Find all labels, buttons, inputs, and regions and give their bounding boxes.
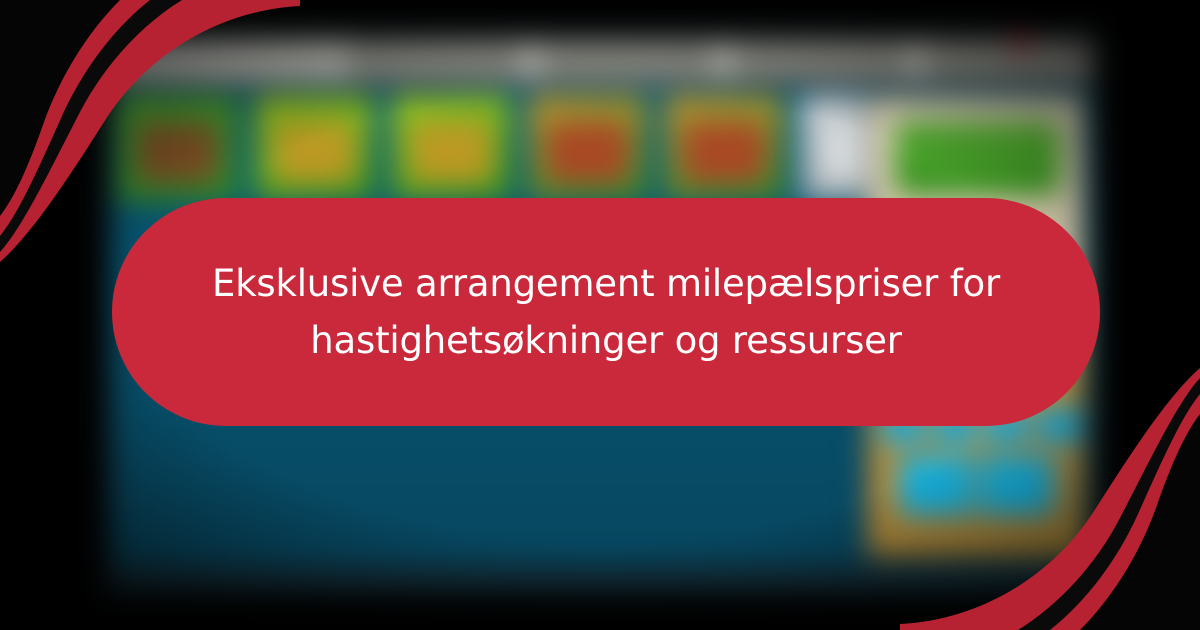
tile-item (254, 95, 374, 203)
toolbar-segment (931, 39, 1092, 82)
tile-item (391, 95, 511, 203)
social-share-card: Eksklusive arrangement milepælspriser fo… (0, 0, 1200, 630)
tile-inner (137, 123, 219, 183)
app-toolbar (111, 39, 1092, 82)
toolbar-segment (354, 39, 515, 82)
side-panel-small-button (1038, 408, 1079, 443)
tile-item (664, 95, 784, 203)
tile-inner (547, 123, 629, 183)
toolbar-chip-icon (712, 45, 735, 76)
app-status-bar (111, 569, 1092, 592)
tile-inner (273, 123, 355, 183)
toolbar-active-tab (111, 39, 349, 82)
page-title: Eksklusive arrangement milepælspriser fo… (198, 255, 1014, 370)
tile-inner (410, 123, 492, 183)
side-panel-secondary-button (899, 456, 1054, 516)
toolbar-chip-icon (519, 45, 542, 76)
headline-pill: Eksklusive arrangement milepælspriser fo… (112, 198, 1100, 426)
tile-row (118, 95, 921, 203)
toolbar-segment (546, 39, 707, 82)
toolbar-segment (739, 39, 900, 82)
side-panel-primary-button (895, 121, 1061, 196)
tile-item (527, 95, 647, 203)
toolbar-chip-icon (904, 45, 927, 76)
tile-inner (683, 123, 765, 183)
tile-item (118, 95, 238, 203)
